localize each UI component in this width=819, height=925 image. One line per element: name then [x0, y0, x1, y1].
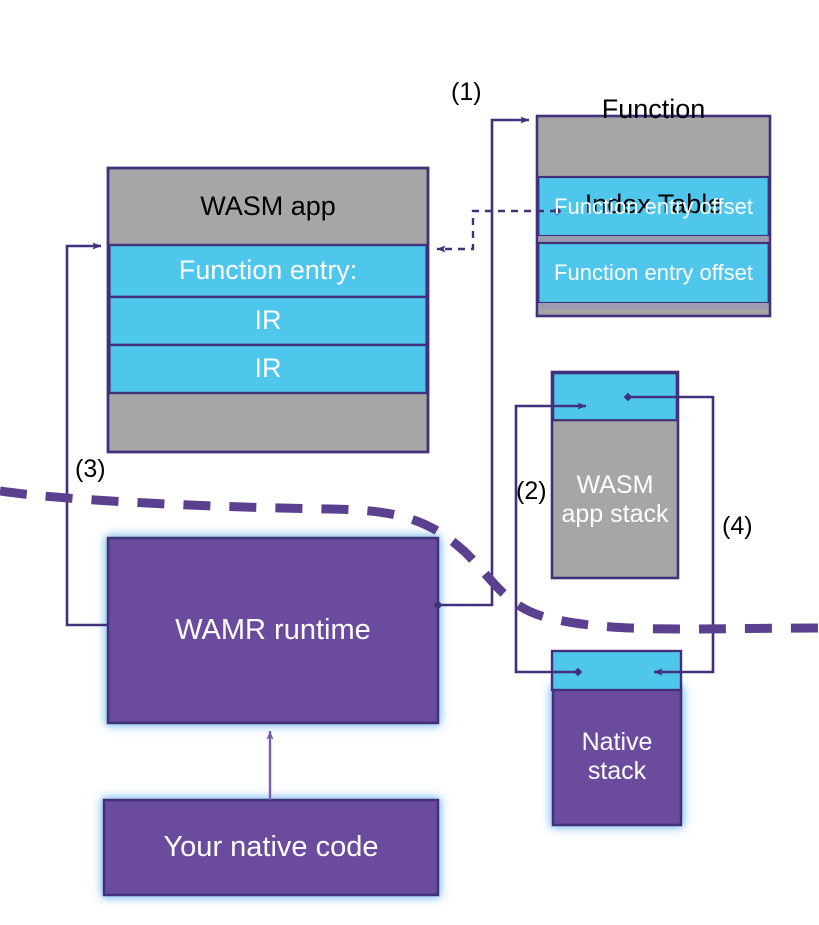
- native-stack-group: [552, 651, 681, 825]
- wamr-runtime-box: [108, 538, 438, 723]
- wasm-app-function-entry-fill: [109, 245, 426, 297]
- step-label-1: (1): [451, 78, 482, 108]
- step-label-2: (2): [516, 477, 547, 507]
- native-stack-body: [553, 688, 681, 825]
- function-index-table-title: Function Index Table: [537, 30, 770, 285]
- wasm-app-ir-1-fill: [109, 297, 426, 345]
- step-label-3: (3): [75, 455, 106, 485]
- wasm-app-ir-2-fill: [109, 345, 426, 393]
- connector-3-path: [67, 246, 108, 625]
- wasm-app-stack-group: [552, 372, 678, 578]
- native-stack-header: [552, 651, 681, 690]
- step-label-4: (4): [722, 512, 753, 542]
- native-code-box: [104, 800, 438, 895]
- wasm-app-group: [108, 168, 428, 452]
- function-index-table-bottom-strip: [538, 303, 768, 309]
- diagram-canvas: Function Index Table Function entry offs…: [0, 0, 819, 925]
- function-index-table-title-line1: Function: [537, 94, 770, 126]
- function-index-table-title-line2: Index Table: [537, 189, 770, 221]
